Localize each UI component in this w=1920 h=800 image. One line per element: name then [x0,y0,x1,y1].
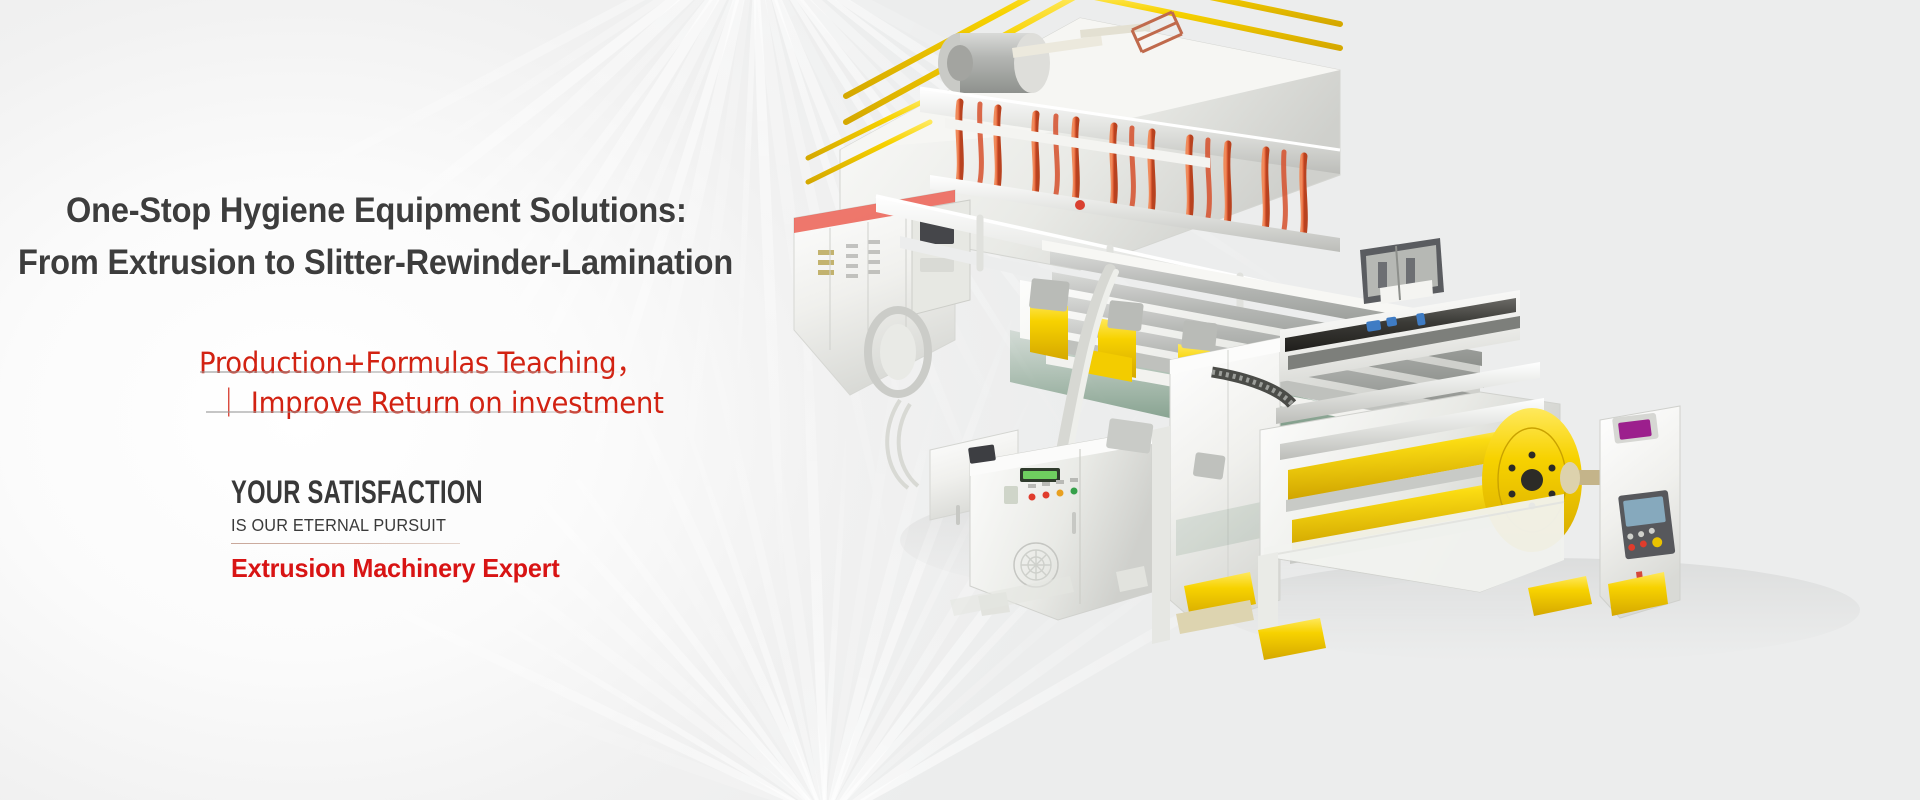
slitter-arm [1360,238,1444,304]
subheading-underline-1 [200,371,620,373]
machine-photo [780,0,1920,800]
operator-panel[interactable] [1600,406,1680,618]
subheading-line-1: Production+Formulas Teaching， [199,340,644,382]
subheading-underline-2 [206,411,620,413]
sensor-indicator [1075,200,1085,210]
slogan-lockup: YOUR SATISFACTION IS OUR ETERNAL PURSUIT… [231,476,651,584]
cabinet-labels [818,250,834,275]
panel-switch [1004,486,1018,504]
headline-line-2: From Extrusion to Slitter-Rewinder-Lamin… [18,243,733,283]
slogan-headline: YOUR SATISFACTION [231,476,542,508]
slogan-tagline: Extrusion Machinery Expert [231,553,638,584]
slogan-divider [231,543,460,544]
headline-line-1: One-Stop Hygiene Equipment Solutions: [66,191,687,231]
hero-banner: One-Stop Hygiene Equipment Solutions: Fr… [0,0,1920,800]
hmi-screen [1623,496,1666,527]
banner-text-block: One-Stop Hygiene Equipment Solutions: Fr… [0,0,900,800]
slogan-subheadline: IS OUR ETERNAL PURSUIT [231,515,622,536]
extruder-cylinder [938,33,1050,93]
subheading-line-2: ｜ Improve Return on investment [215,380,664,422]
